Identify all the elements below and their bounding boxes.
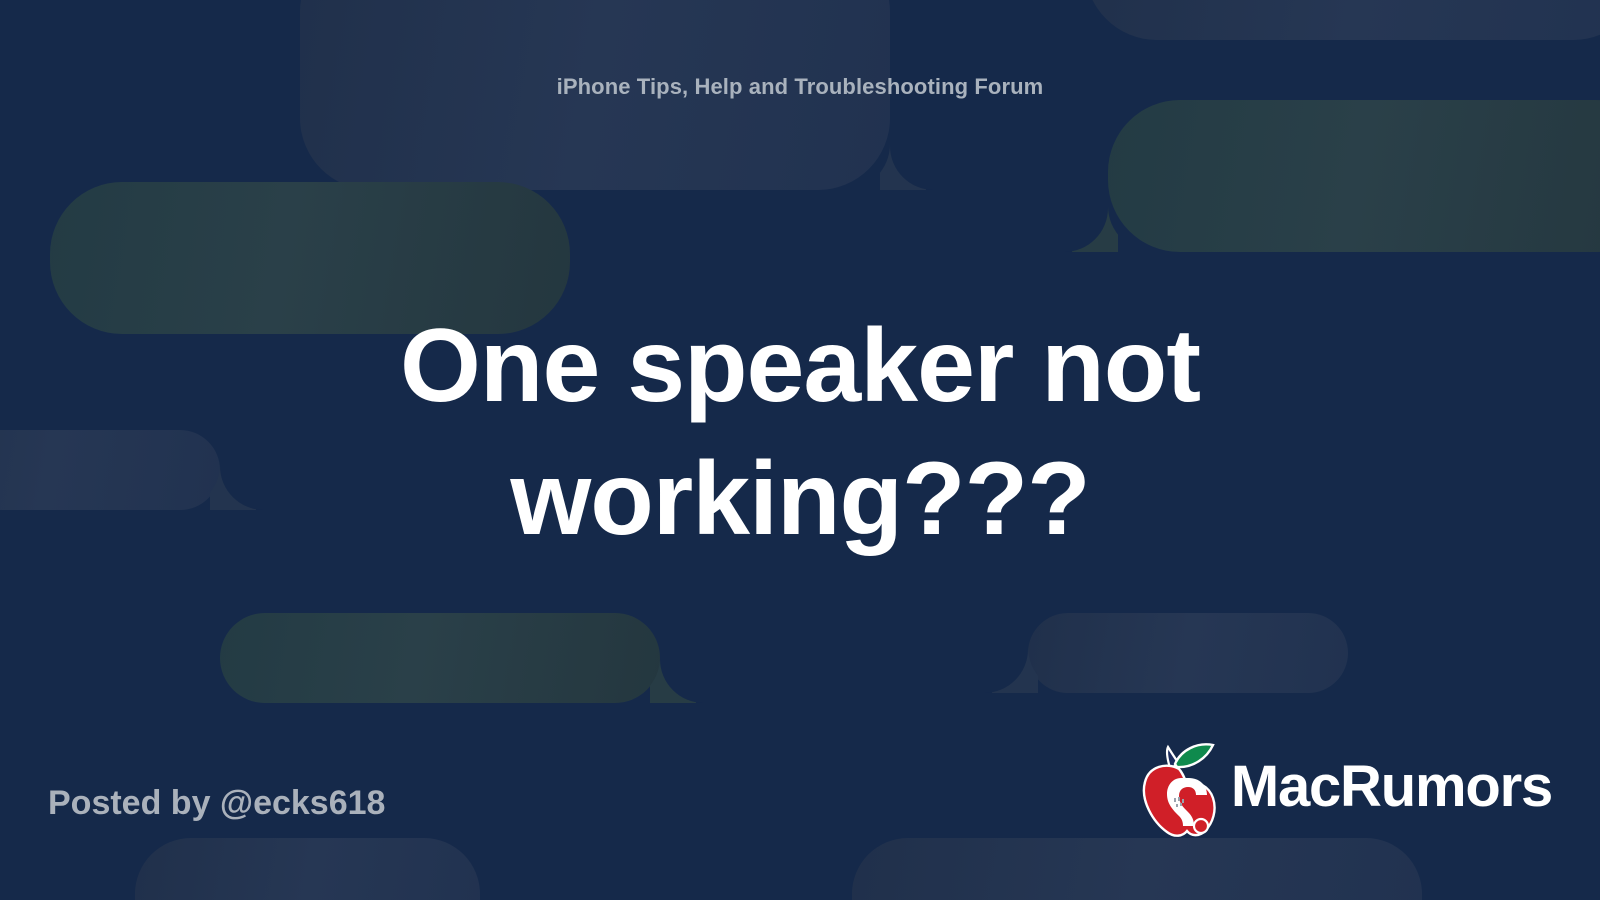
- macrumors-logo: MacRumors: [1137, 738, 1552, 842]
- page-title: One speaker not working???: [120, 300, 1480, 566]
- card-content: iPhone Tips, Help and Troubleshooting Fo…: [0, 0, 1600, 900]
- author-byline: Posted by @ecks618: [48, 784, 385, 823]
- macrumors-wordmark: MacRumors: [1231, 758, 1552, 822]
- forum-category-label: iPhone Tips, Help and Troubleshooting Fo…: [0, 74, 1600, 100]
- macrumors-apple-icon: [1137, 738, 1221, 842]
- share-card: iPhone Tips, Help and Troubleshooting Fo…: [0, 0, 1600, 900]
